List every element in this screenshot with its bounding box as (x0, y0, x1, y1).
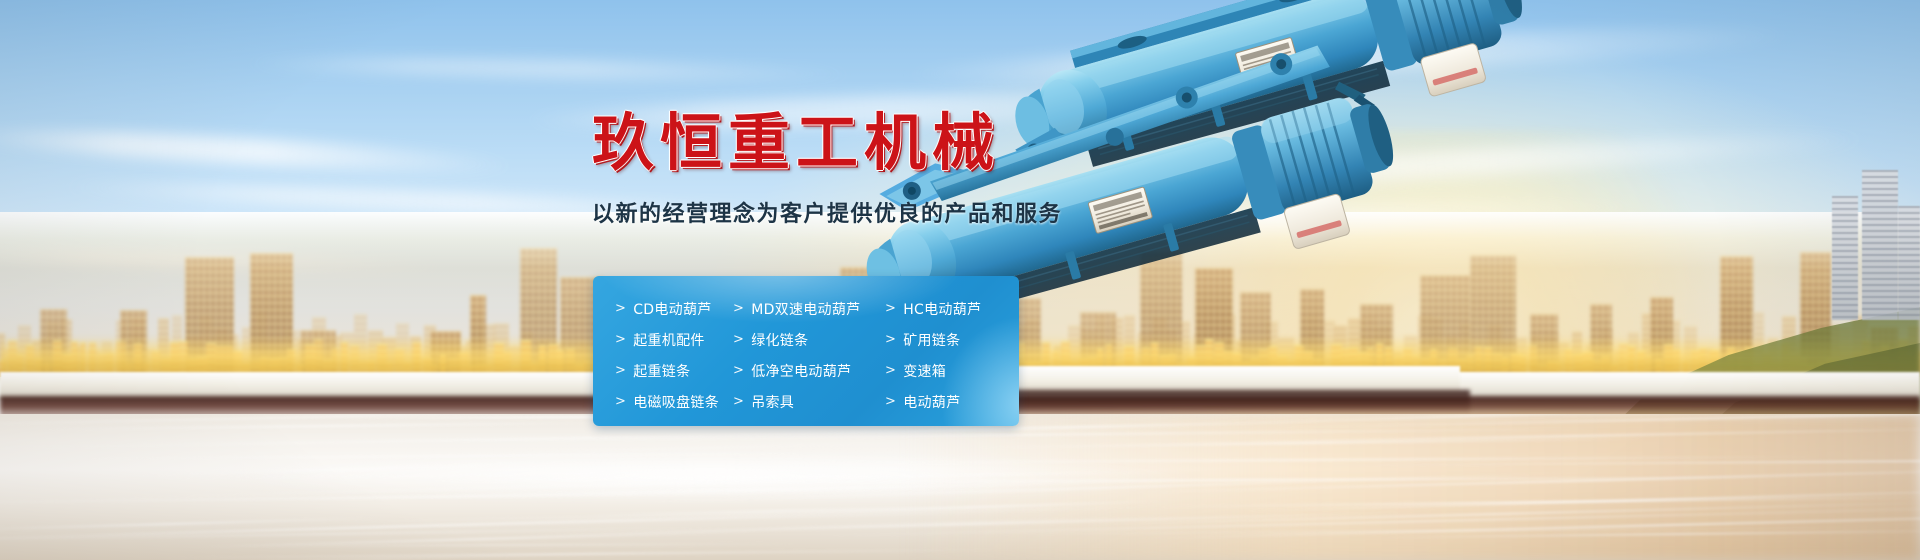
product-links-grid: >CD电动葫芦>MD双速电动葫芦>HC电动葫芦>起重机配件>绿化链条>矿用链条>… (593, 276, 1019, 426)
right-tower (1862, 170, 1898, 320)
product-link-label: 电动葫芦 (903, 392, 960, 412)
product-link-label: HC电动葫芦 (903, 299, 981, 319)
product-link[interactable]: >起重机配件 (593, 324, 711, 355)
page-subtitle: 以新的经营理念为客户提供优良的产品和服务 (592, 196, 1062, 228)
product-link-label: 变速箱 (903, 361, 946, 381)
product-link-label: 吊索具 (751, 392, 794, 412)
product-link[interactable]: >低净空电动葫芦 (711, 355, 863, 386)
product-link-label: 电磁吸盘链条 (633, 392, 719, 412)
product-link-label: 起重机配件 (633, 330, 705, 350)
chevron-right-icon: > (885, 301, 896, 316)
product-links-panel: >CD电动葫芦>MD双速电动葫芦>HC电动葫芦>起重机配件>绿化链条>矿用链条>… (593, 276, 1019, 426)
headline-block: 玖恒重工机械 以新的经营理念为客户提供优良的产品和服务 (592, 112, 1062, 228)
chevron-right-icon: > (733, 332, 744, 347)
chevron-right-icon: > (615, 394, 626, 409)
right-tower (1898, 206, 1920, 320)
product-link[interactable]: >MD双速电动葫芦 (711, 293, 863, 324)
product-link[interactable]: >CD电动葫芦 (593, 293, 711, 324)
product-link[interactable]: >矿用链条 (863, 324, 1019, 355)
right-tower (1832, 196, 1858, 320)
product-link-label: 绿化链条 (751, 330, 808, 350)
chevron-right-icon: > (733, 301, 744, 316)
product-link[interactable]: >电动葫芦 (863, 386, 1019, 417)
hero-banner: 玖恒重工机械 以新的经营理念为客户提供优良的产品和服务 >CD电动葫芦>MD双速… (0, 0, 1920, 560)
product-link-label: 矿用链条 (903, 330, 960, 350)
chevron-right-icon: > (733, 394, 744, 409)
page-title: 玖恒重工机械 (592, 112, 1062, 174)
product-link[interactable]: >变速箱 (863, 355, 1019, 386)
chevron-right-icon: > (615, 363, 626, 378)
chevron-right-icon: > (615, 301, 626, 316)
product-link[interactable]: >绿化链条 (711, 324, 863, 355)
chevron-right-icon: > (615, 332, 626, 347)
road-sheen (220, 452, 1200, 502)
product-link[interactable]: >吊索具 (711, 386, 863, 417)
chevron-right-icon: > (733, 363, 744, 378)
chevron-right-icon: > (885, 363, 896, 378)
product-link[interactable]: >电磁吸盘链条 (593, 386, 711, 417)
product-link[interactable]: >起重链条 (593, 355, 711, 386)
product-link-label: 低净空电动葫芦 (751, 361, 851, 381)
product-link-label: MD双速电动葫芦 (751, 299, 860, 319)
chevron-right-icon: > (885, 332, 896, 347)
chevron-right-icon: > (885, 394, 896, 409)
product-link[interactable]: >HC电动葫芦 (863, 293, 1019, 324)
product-link-label: 起重链条 (633, 361, 690, 381)
product-link-label: CD电动葫芦 (633, 299, 711, 319)
